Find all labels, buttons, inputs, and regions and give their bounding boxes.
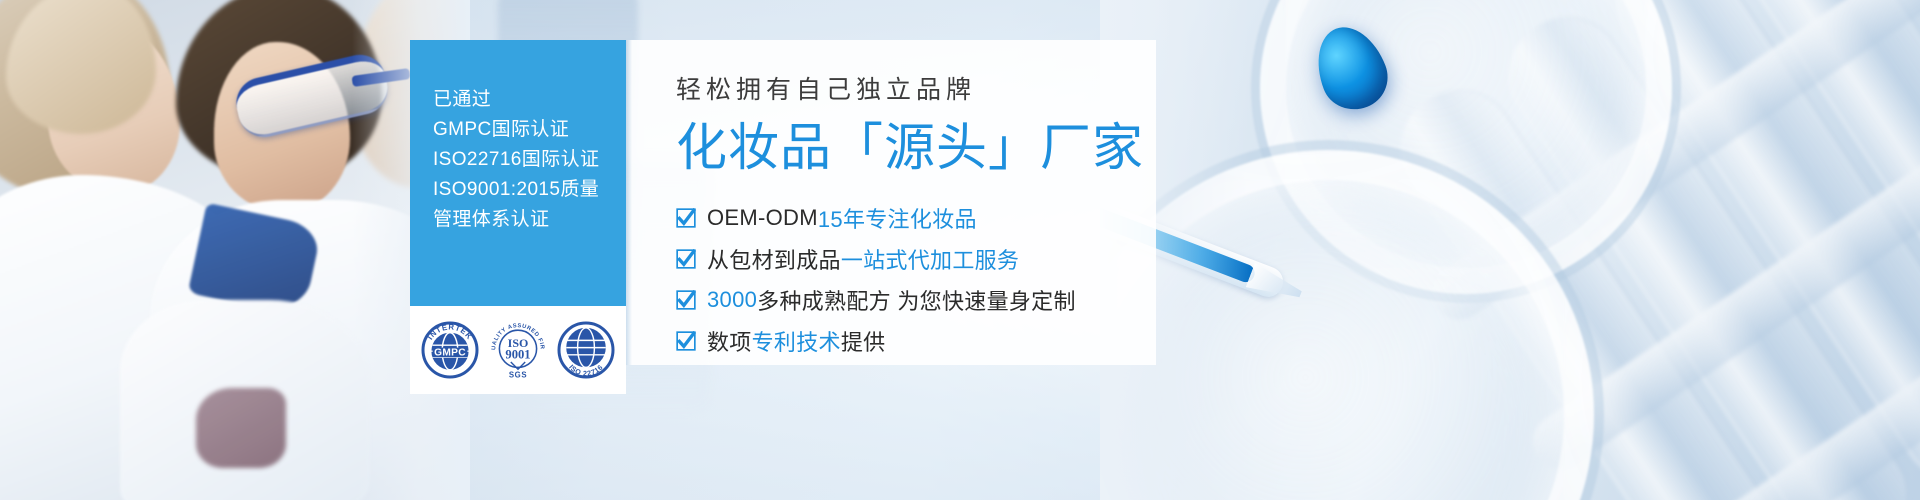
iso-22716-logo: ISO 22716: [556, 320, 616, 380]
bullet-text-plain: 从包材到成品: [707, 243, 841, 275]
bullet-text-plain: OEM-ODM: [707, 205, 818, 231]
list-item: 从包材到成品 一站式代加工服务: [676, 238, 1156, 279]
bullet-text-plain-tail: 多种成熟配方 为您快速量身定制: [757, 284, 1076, 316]
iso-9001-number: 9001: [505, 347, 530, 361]
panel-headline: 化妆品「源头」厂家: [676, 120, 1156, 175]
sgs-label: SGS: [509, 371, 527, 380]
list-item: 数项 专利技术 提供: [676, 320, 1156, 361]
main-message-panel: 轻松拥有自己独立品牌 化妆品「源头」厂家 OEM-ODM 15年专注化妆品 从包…: [632, 40, 1156, 365]
lab-scientists-photo: [0, 0, 470, 500]
lab-glassware-photo: [1100, 0, 1920, 500]
checkbox-check-icon: [676, 208, 696, 228]
promo-banner: 已通过 GMPC国际认证 ISO22716国际认证 ISO9001:2015质量…: [0, 0, 1920, 500]
certification-card: 已通过 GMPC国际认证 ISO22716国际认证 ISO9001:2015质量…: [410, 40, 626, 306]
certification-text-block: 已通过 GMPC国际认证 ISO22716国际认证 ISO9001:2015质量…: [410, 40, 626, 235]
gmpc-label: GMPC: [434, 347, 466, 358]
bullet-text-accent: 一站式代加工服务: [841, 243, 1019, 275]
certification-line-4: ISO9001:2015质量: [433, 175, 626, 205]
certification-line-1: 已通过: [433, 85, 626, 115]
bullet-text-accent: 15年专注化妆品: [818, 202, 977, 234]
scientist-one-hand: [196, 388, 286, 468]
panel-kicker: 轻松拥有自己独立品牌: [676, 78, 1156, 103]
bullet-text-accent: 3000: [707, 287, 757, 313]
bullet-text-plain: 数项: [707, 325, 752, 357]
checkbox-check-icon: [676, 290, 696, 310]
iso-9001-sgs-logo: QUALITY ASSURED FIRM ISO 9001 SGS: [488, 320, 548, 380]
scientist-one-fringe: [6, 0, 156, 134]
feature-bullet-list: OEM-ODM 15年专注化妆品 从包材到成品 一站式代加工服务: [676, 197, 1156, 361]
intertek-gmpc-logo: INTERTEK GMPC: [420, 320, 480, 380]
certification-logo-strip: INTERTEK GMPC QUALITY ASSURED FIRM ISO 9…: [410, 306, 626, 394]
checkbox-check-icon: [676, 331, 696, 351]
certification-line-3: ISO22716国际认证: [433, 145, 626, 175]
bullet-text-accent: 专利技术: [752, 325, 841, 357]
list-item: OEM-ODM 15年专注化妆品: [676, 197, 1156, 238]
certification-line-5: 管理体系认证: [433, 205, 626, 235]
list-item: 3000 多种成熟配方 为您快速量身定制: [676, 279, 1156, 320]
certification-line-2: GMPC国际认证: [433, 115, 626, 145]
bullet-text-plain-tail: 提供: [841, 325, 886, 357]
checkbox-check-icon: [676, 249, 696, 269]
